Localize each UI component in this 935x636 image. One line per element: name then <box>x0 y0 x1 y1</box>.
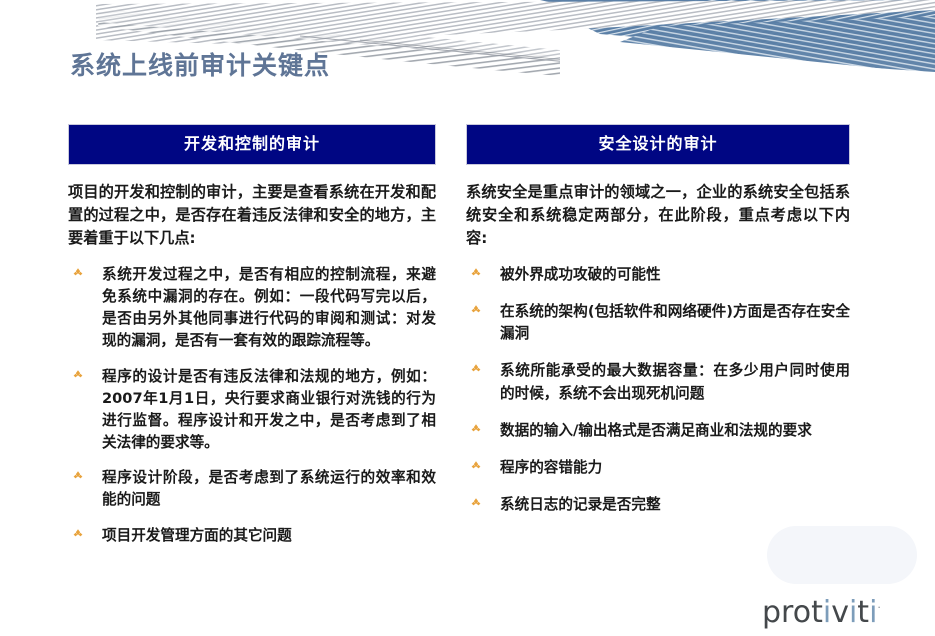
slide-canvas: 系统上线前审计关键点 开发和控制的审计 项目的开发和控制的审计，主要是查看系统在… <box>0 0 935 636</box>
list-item: 程序设计阶段，是否考虑到了系统运行的效率和效能的问题 <box>68 467 436 511</box>
diamond-bullet-icon <box>468 361 484 377</box>
logo-registered-mark: · <box>877 601 881 614</box>
list-item: 系统日志的记录是否完整 <box>466 494 850 516</box>
diamond-bullet-icon <box>468 458 484 474</box>
list-item-text: 系统开发过程之中，是否有相应的控制流程，来避免系统中漏洞的存在。例如：一段代码写… <box>102 266 436 350</box>
column-right-banner: 安全设计的审计 <box>466 124 850 165</box>
logo-backdrop <box>767 526 917 584</box>
column-left-bullet-list: 系统开发过程之中，是否有相应的控制流程，来避免系统中漏洞的存在。例如：一段代码写… <box>68 264 436 547</box>
diamond-bullet-icon <box>468 302 484 318</box>
column-right-bullet-list: 被外界成功攻破的可能性 在系统的架构(包括软件和网络硬件)方面是否存在安全漏洞 … <box>466 264 850 516</box>
logo-part-t: t <box>857 595 869 630</box>
list-item-text: 项目开发管理方面的其它问题 <box>102 527 292 544</box>
diamond-bullet-icon <box>70 265 86 281</box>
column-left-banner: 开发和控制的审计 <box>68 124 436 165</box>
list-item: 项目开发管理方面的其它问题 <box>68 525 436 547</box>
column-right-intro: 系统安全是重点审计的领域之一，企业的系统安全包括系统安全和系统稳定两部分，在此阶… <box>466 181 850 250</box>
page-title: 系统上线前审计关键点 <box>70 46 330 82</box>
column-development-control: 开发和控制的审计 项目的开发和控制的审计，主要是查看系统在开发和配置的过程之中，… <box>68 124 436 547</box>
list-item: 程序的容错能力 <box>466 457 850 479</box>
diamond-bullet-icon <box>468 265 484 281</box>
list-item: 被外界成功攻破的可能性 <box>466 264 850 286</box>
column-security-design: 安全设计的审计 系统安全是重点审计的领域之一，企业的系统安全包括系统安全和系统稳… <box>466 124 850 531</box>
diamond-bullet-icon <box>70 526 86 542</box>
list-item-text: 程序的容错能力 <box>500 459 602 476</box>
list-item-text: 在系统的架构(包括软件和网络硬件)方面是否存在安全漏洞 <box>500 303 850 342</box>
diamond-bullet-icon <box>468 495 484 511</box>
list-item-text: 系统日志的记录是否完整 <box>500 496 661 513</box>
list-item: 程序的设计是否有违反法律和法规的地方，例如：2007年1月1日，央行要求商业银行… <box>68 366 436 455</box>
list-item-text: 被外界成功攻破的可能性 <box>500 266 661 283</box>
list-item-text: 程序设计阶段，是否考虑到了系统运行的效率和效能的问题 <box>102 469 436 508</box>
list-item: 系统开发过程之中，是否有相应的控制流程，来避免系统中漏洞的存在。例如：一段代码写… <box>68 264 436 353</box>
protiviti-logo: protiviti· <box>762 598 881 628</box>
list-item-text: 系统所能承受的最大数据容量：在多少用户同时使用的时候，系统不会出现死机问题 <box>500 362 850 401</box>
list-item-text: 数据的输入/输出格式是否满足商业和法规的要求 <box>500 422 812 439</box>
list-item-text: 程序的设计是否有违反法律和法规的地方，例如：2007年1月1日，央行要求商业银行… <box>102 368 436 452</box>
diamond-bullet-icon <box>70 367 86 383</box>
list-item: 在系统的架构(包括软件和网络硬件)方面是否存在安全漏洞 <box>466 301 850 345</box>
column-left-intro: 项目的开发和控制的审计，主要是查看系统在开发和配置的过程之中，是否存在着违反法律… <box>68 181 436 250</box>
list-item: 数据的输入/输出格式是否满足商业和法规的要求 <box>466 420 850 442</box>
logo-part-i1: i <box>823 595 831 630</box>
logo-part-prot: prot <box>762 595 823 630</box>
diamond-bullet-icon <box>468 421 484 437</box>
diamond-bullet-icon <box>70 468 86 484</box>
list-item: 系统所能承受的最大数据容量：在多少用户同时使用的时候，系统不会出现死机问题 <box>466 360 850 404</box>
logo-part-v: v <box>831 595 849 630</box>
